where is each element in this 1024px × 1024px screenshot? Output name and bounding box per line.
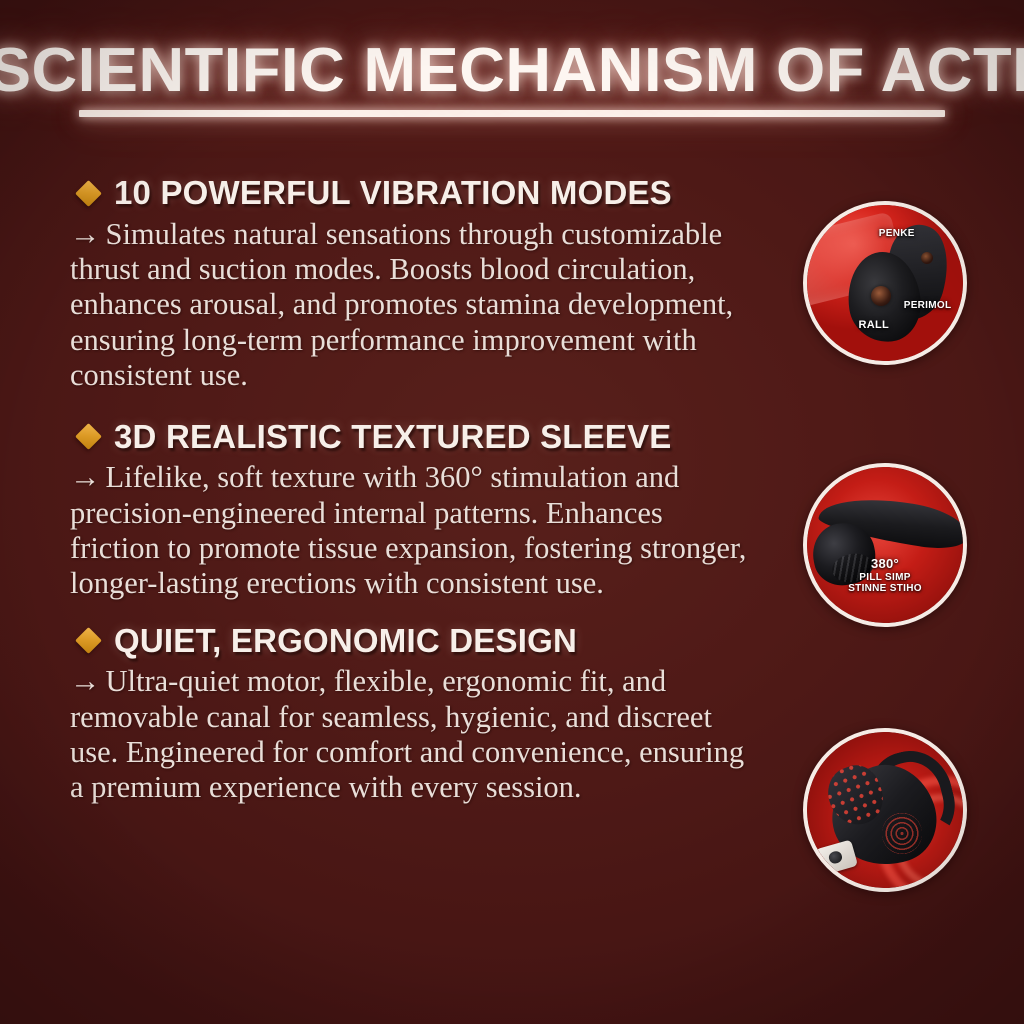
feature-body-copy: Lifelike, soft texture with 360° stimula…: [70, 460, 746, 600]
arrow-icon: →: [70, 460, 106, 494]
photo-label-line2: PILL SIMP: [807, 572, 963, 583]
feature-heading-row: 10 POWERFUL VIBRATION MODES: [79, 176, 770, 211]
feature-item: 10 POWERFUL VIBRATION MODES →Simulates n…: [70, 176, 770, 394]
feature-heading-text: 3D REALISTIC TEXTURED SLEEVE: [114, 420, 672, 455]
page-title: SCIENTIFIC MECHANISM OF ACTION: [0, 40, 1024, 102]
product-photo-ergonomic-design: [803, 728, 967, 892]
photo-artwork: 380° PILL SIMP STINNE STIHO: [807, 467, 963, 623]
feature-heading-text: 10 POWERFUL VIBRATION MODES: [114, 176, 672, 211]
feature-body-text: →Ultra-quiet motor, flexible, ergonomic …: [70, 664, 760, 806]
feature-heading-row: QUIET, ERGONOMIC DESIGN: [79, 624, 770, 659]
photo-label-top: PENKE: [879, 228, 915, 239]
title-block: SCIENTIFIC MECHANISM OF ACTION: [0, 40, 1024, 117]
photo-caption-block: 380° PILL SIMP STINNE STIHO: [807, 557, 963, 593]
feature-heading-text: QUIET, ERGONOMIC DESIGN: [114, 624, 577, 659]
arrow-icon: →: [70, 664, 106, 698]
product-swirl-texture: [882, 813, 923, 854]
poster-canvas: SCIENTIFIC MECHANISM OF ACTION 10 POWERF…: [0, 0, 1024, 1024]
photo-label-bottom-left: RALL: [858, 319, 889, 331]
feature-heading-row: 3D REALISTIC TEXTURED SLEEVE: [79, 420, 770, 455]
remote-button-icon: [828, 851, 843, 865]
arrow-icon: →: [70, 217, 106, 251]
product-photo-textured-sleeve: 380° PILL SIMP STINNE STIHO: [803, 463, 967, 627]
feature-item: 3D REALISTIC TEXTURED SLEEVE →Lifelike, …: [70, 420, 770, 602]
photo-label-right: PERIMOL: [904, 300, 952, 311]
title-underline-rule: [79, 110, 945, 117]
photo-label-line3: STINNE STIHO: [807, 583, 963, 594]
diamond-bullet-icon: [75, 628, 102, 655]
feature-body-copy: Ultra-quiet motor, flexible, ergonomic f…: [70, 664, 744, 804]
feature-body-text: →Lifelike, soft texture with 360° stimul…: [70, 460, 760, 602]
feature-body-copy: Simulates natural sensations through cus…: [70, 217, 733, 393]
feature-list: 10 POWERFUL VIBRATION MODES →Simulates n…: [70, 176, 770, 822]
photo-artwork: [807, 732, 963, 888]
diamond-bullet-icon: [75, 180, 102, 207]
diamond-bullet-icon: [75, 423, 102, 450]
feature-body-text: →Simulates natural sensations through cu…: [70, 217, 760, 394]
photo-label-degree: 380°: [807, 557, 963, 571]
photo-artwork: PENKE RALL PERIMOL: [807, 205, 963, 361]
product-photo-vibration-modes: PENKE RALL PERIMOL: [803, 201, 967, 365]
feature-item: QUIET, ERGONOMIC DESIGN →Ultra-quiet mot…: [70, 624, 770, 806]
